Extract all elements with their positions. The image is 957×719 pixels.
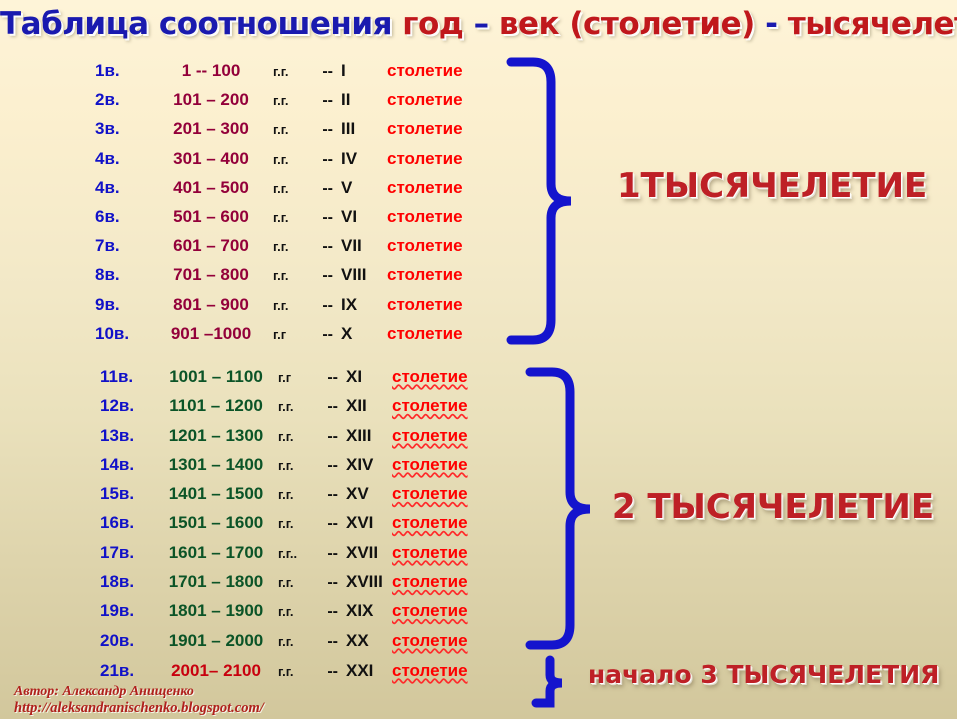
table-row: 6в.501 – 600г.г.--VIстолетие [95, 202, 463, 231]
row-roman-numeral: XXI [338, 656, 392, 685]
table-row: 10в.901 –1000г.г--Xстолетие [95, 319, 463, 348]
table-row: 11в.1001 – 1100г.г--XIстолетие [100, 362, 468, 391]
row-years-abbrev: г.г. [278, 392, 320, 421]
row-century-label: 1в. [95, 56, 149, 85]
row-years-abbrev: г.г. [273, 261, 315, 290]
row-century-label: 18в. [100, 567, 154, 596]
page-title-segment-4: - [755, 6, 788, 42]
page-title-segment-2: – [474, 6, 499, 42]
row-roman-numeral: XX [338, 626, 392, 655]
row-century-label: 14в. [100, 450, 154, 479]
author-credit: Автор: Александр Анищенко http://aleksan… [14, 684, 264, 716]
page-title-segment-1: год [402, 6, 473, 42]
row-years-abbrev: г.г. [278, 597, 320, 626]
row-century-word: столетие [392, 450, 468, 479]
row-dash-separator: -- [320, 509, 338, 538]
row-year-range: 1 -- 100 [149, 56, 273, 85]
row-year-range: 401 – 500 [149, 173, 273, 202]
row-century-label: 7в. [95, 231, 149, 260]
row-century-label: 8в. [95, 260, 149, 289]
row-century-label: 3в. [95, 114, 149, 143]
row-years-abbrev: г.г [273, 320, 315, 349]
row-years-abbrev: г.г. [278, 627, 320, 656]
row-years-abbrev: г.г. [273, 203, 315, 232]
row-century-label: 21в. [100, 656, 154, 685]
century-block-first-millennium: 1в.1 -- 100г.г.--Iстолетие2в.101 – 200г.… [95, 56, 463, 348]
row-dash-separator: -- [315, 86, 333, 115]
row-dash-separator: -- [315, 145, 333, 174]
row-century-word: столетие [387, 290, 463, 319]
row-years-abbrev: г.г. [273, 174, 315, 203]
row-dash-separator: -- [315, 291, 333, 320]
row-years-abbrev: г.г. [278, 451, 320, 480]
row-year-range: 801 – 900 [149, 290, 273, 319]
row-century-word: столетие [392, 538, 468, 567]
row-century-word: столетие [392, 362, 468, 391]
row-roman-numeral: XVII [338, 538, 392, 567]
row-dash-separator: -- [315, 174, 333, 203]
row-dash-separator: -- [315, 115, 333, 144]
century-block-second-millennium: 11в.1001 – 1100г.г--XIстолетие12в.1101 –… [100, 362, 468, 655]
row-century-label: 6в. [95, 202, 149, 231]
table-row: 14в.1301 – 1400г.г.--XIVстолетие [100, 450, 468, 479]
slide-canvas: Таблица соотношения год – век (столетие)… [0, 0, 957, 719]
row-dash-separator: -- [315, 320, 333, 349]
table-row: 4в.401 – 500г.г.--Vстолетие [95, 173, 463, 202]
row-roman-numeral: XI [338, 362, 392, 391]
row-roman-numeral: IV [333, 144, 387, 173]
label-third-millennium: начало 3 ТЫСЯЧЕЛЕТИЯ [588, 660, 939, 689]
row-years-abbrev: г.г. [273, 232, 315, 261]
table-row: 15в.1401 – 1500г.г.--XVстолетие [100, 479, 468, 508]
row-dash-separator: -- [320, 392, 338, 421]
table-row: 2в.101 – 200г.г.--IIстолетие [95, 85, 463, 114]
row-century-label: 9в. [95, 290, 149, 319]
row-years-abbrev: г.г.. [278, 539, 320, 568]
row-year-range: 1701 – 1800 [154, 567, 278, 596]
row-century-label: 17в. [100, 538, 154, 567]
table-row: 20в.1901 – 2000г.г.--XXстолетие [100, 626, 468, 655]
brace-second-millennium [524, 366, 614, 651]
row-roman-numeral: VI [333, 202, 387, 231]
row-years-abbrev: г.г. [278, 422, 320, 451]
table-row: 3в.201 – 300г.г.--IIIстолетие [95, 114, 463, 143]
row-century-label: 20в. [100, 626, 154, 655]
century-block-third-millennium: 21в.2001– 2100г.г.--XXIстолетие [100, 656, 468, 685]
row-century-label: 15в. [100, 479, 154, 508]
row-century-word: столетие [387, 85, 463, 114]
row-dash-separator: -- [320, 451, 338, 480]
row-century-word: столетие [387, 319, 463, 348]
row-year-range: 701 – 800 [149, 260, 273, 289]
row-year-range: 1601 – 1700 [154, 538, 278, 567]
row-century-word: столетие [387, 173, 463, 202]
page-title-segment-0: Таблица соотношения [0, 6, 402, 42]
row-century-word: столетие [392, 567, 468, 596]
table-row: 18в.1701 – 1800г.г.--XVIIIстолетие [100, 567, 468, 596]
row-year-range: 501 – 600 [149, 202, 273, 231]
row-century-word: столетие [392, 508, 468, 537]
row-roman-numeral: VII [333, 231, 387, 260]
row-century-word: столетие [387, 202, 463, 231]
row-century-word: столетие [392, 656, 468, 685]
row-year-range: 201 – 300 [149, 114, 273, 143]
row-years-abbrev: г.г. [278, 480, 320, 509]
row-century-label: 13в. [100, 421, 154, 450]
page-title-segment-5: тысячелетие [788, 6, 957, 42]
table-row: 12в.1101 – 1200г.г.--XIIстолетие [100, 391, 468, 420]
row-century-word: столетие [392, 391, 468, 420]
row-years-abbrev: г.г. [273, 57, 315, 86]
row-years-abbrev: г.г [278, 363, 320, 392]
row-years-abbrev: г.г. [278, 657, 320, 686]
row-years-abbrev: г.г. [278, 568, 320, 597]
row-year-range: 1801 – 1900 [154, 596, 278, 625]
row-roman-numeral: XVIII [338, 567, 392, 596]
row-century-label: 16в. [100, 508, 154, 537]
row-century-word: столетие [387, 114, 463, 143]
row-year-range: 601 – 700 [149, 231, 273, 260]
row-dash-separator: -- [320, 363, 338, 392]
row-century-word: столетие [387, 144, 463, 173]
row-roman-numeral: XVI [338, 508, 392, 537]
row-year-range: 1301 – 1400 [154, 450, 278, 479]
row-years-abbrev: г.г. [273, 86, 315, 115]
row-century-label: 10в. [95, 319, 149, 348]
author-url[interactable]: http://aleksandranischenko.blogspot.com/ [14, 700, 264, 716]
row-roman-numeral: VIII [333, 260, 387, 289]
row-century-word: столетие [387, 56, 463, 85]
row-dash-separator: -- [320, 657, 338, 686]
row-dash-separator: -- [320, 597, 338, 626]
row-century-label: 12в. [100, 391, 154, 420]
row-dash-separator: -- [315, 57, 333, 86]
table-row: 16в.1501 – 1600г.г.--XVIстолетие [100, 508, 468, 537]
label-first-millennium: 1ТЫСЯЧЕЛЕТИЕ [617, 166, 927, 206]
page-title-segment-3: век (столетие) [499, 6, 755, 42]
row-year-range: 101 – 200 [149, 85, 273, 114]
table-row: 8в.701 – 800г.г.--VIIIстолетие [95, 260, 463, 289]
row-century-label: 19в. [100, 596, 154, 625]
row-roman-numeral: X [333, 319, 387, 348]
row-dash-separator: -- [315, 203, 333, 232]
row-roman-numeral: II [333, 85, 387, 114]
row-century-word: столетие [387, 231, 463, 260]
row-year-range: 1401 – 1500 [154, 479, 278, 508]
row-year-range: 1501 – 1600 [154, 508, 278, 537]
brace-third-millennium [528, 655, 588, 713]
row-years-abbrev: г.г. [278, 509, 320, 538]
row-dash-separator: -- [320, 539, 338, 568]
row-dash-separator: -- [320, 627, 338, 656]
row-roman-numeral: XV [338, 479, 392, 508]
row-year-range: 2001– 2100 [154, 656, 278, 685]
table-row: 17в.1601 – 1700г.г..--XVIIстолетие [100, 538, 468, 567]
row-century-word: столетие [392, 596, 468, 625]
label-second-millennium: 2 ТЫСЯЧЕЛЕТИЕ [612, 487, 934, 527]
brace-first-millennium [505, 56, 595, 346]
table-row: 9в.801 – 900г.г.--IXстолетие [95, 290, 463, 319]
row-roman-numeral: I [333, 56, 387, 85]
table-row: 1в.1 -- 100г.г.--Iстолетие [95, 56, 463, 85]
row-century-word: столетие [392, 479, 468, 508]
author-name: Автор: Александр Анищенко [14, 684, 264, 700]
row-century-word: столетие [392, 626, 468, 655]
row-century-word: столетие [387, 260, 463, 289]
row-year-range: 1201 – 1300 [154, 421, 278, 450]
row-dash-separator: -- [315, 261, 333, 290]
row-years-abbrev: г.г. [273, 291, 315, 320]
row-roman-numeral: IX [333, 290, 387, 319]
row-years-abbrev: г.г. [273, 145, 315, 174]
row-year-range: 1101 – 1200 [154, 391, 278, 420]
row-dash-separator: -- [320, 568, 338, 597]
row-century-label: 2в. [95, 85, 149, 114]
row-century-word: столетие [392, 421, 468, 450]
row-roman-numeral: V [333, 173, 387, 202]
page-title: Таблица соотношения год – век (столетие)… [0, 6, 957, 42]
table-row: 4в.301 – 400г.г.--IVстолетие [95, 144, 463, 173]
table-row: 13в.1201 – 1300г.г.--XIIIстолетие [100, 421, 468, 450]
row-roman-numeral: XII [338, 391, 392, 420]
row-dash-separator: -- [315, 232, 333, 261]
row-year-range: 901 –1000 [149, 319, 273, 348]
row-year-range: 1901 – 2000 [154, 626, 278, 655]
table-row: 7в.601 – 700г.г.--VIIстолетие [95, 231, 463, 260]
row-roman-numeral: III [333, 114, 387, 143]
row-roman-numeral: XIX [338, 596, 392, 625]
table-row: 19в.1801 – 1900г.г.--XIXстолетие [100, 596, 468, 625]
row-year-range: 1001 – 1100 [154, 362, 278, 391]
row-years-abbrev: г.г. [273, 115, 315, 144]
row-dash-separator: -- [320, 480, 338, 509]
row-roman-numeral: XIV [338, 450, 392, 479]
row-century-label: 4в. [95, 144, 149, 173]
row-roman-numeral: XIII [338, 421, 392, 450]
row-century-label: 11в. [100, 362, 154, 391]
table-row: 21в.2001– 2100г.г.--XXIстолетие [100, 656, 468, 685]
row-dash-separator: -- [320, 422, 338, 451]
row-century-label: 4в. [95, 173, 149, 202]
row-year-range: 301 – 400 [149, 144, 273, 173]
